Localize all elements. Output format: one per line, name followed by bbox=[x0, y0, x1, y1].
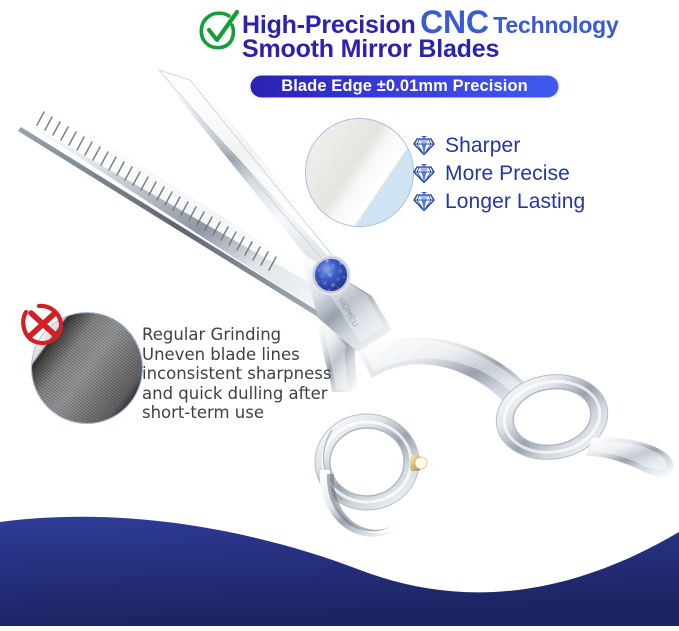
precision-badge: Blade Edge ±0.01mm Precision bbox=[249, 74, 560, 99]
caption-line: and quick dulling after bbox=[142, 384, 352, 404]
feature-label: Longer Lasting bbox=[445, 190, 585, 214]
text-overlay: High-Precision CNC Technology Smooth Mir… bbox=[0, 0, 679, 626]
feature-item-longer-lasting: Longer Lasting bbox=[413, 188, 585, 216]
regular-grinding-caption: Regular Grinding Uneven blade lines inco… bbox=[142, 325, 352, 423]
headline-subtitle: Smooth Mirror Blades bbox=[242, 35, 499, 63]
headline-word-technology: Technology bbox=[493, 12, 618, 38]
green-check-circle-icon bbox=[196, 9, 240, 53]
headline-block: High-Precision CNC Technology Smooth Mir… bbox=[196, 4, 679, 70]
feature-label: More Precise bbox=[445, 162, 570, 186]
precision-badge-label: Blade Edge ±0.01mm Precision bbox=[281, 77, 528, 96]
feature-item-sharper: Sharper bbox=[413, 132, 585, 160]
caption-line: short-term use bbox=[142, 403, 352, 423]
diamond-icon bbox=[413, 164, 435, 184]
feature-item-more-precise: More Precise bbox=[413, 160, 585, 188]
feature-list: Sharper More Precise bbox=[413, 132, 585, 216]
promo-image-canvas: MONC TCU bbox=[0, 0, 679, 626]
feature-label: Sharper bbox=[445, 134, 520, 158]
headline-line-2: Smooth Mirror Blades bbox=[242, 35, 499, 64]
diamond-icon bbox=[413, 192, 435, 212]
caption-line: Uneven blade lines bbox=[142, 345, 352, 365]
diamond-icon bbox=[413, 136, 435, 156]
caption-line: inconsistent sharpness bbox=[142, 364, 352, 384]
caption-line: Regular Grinding bbox=[142, 325, 352, 345]
